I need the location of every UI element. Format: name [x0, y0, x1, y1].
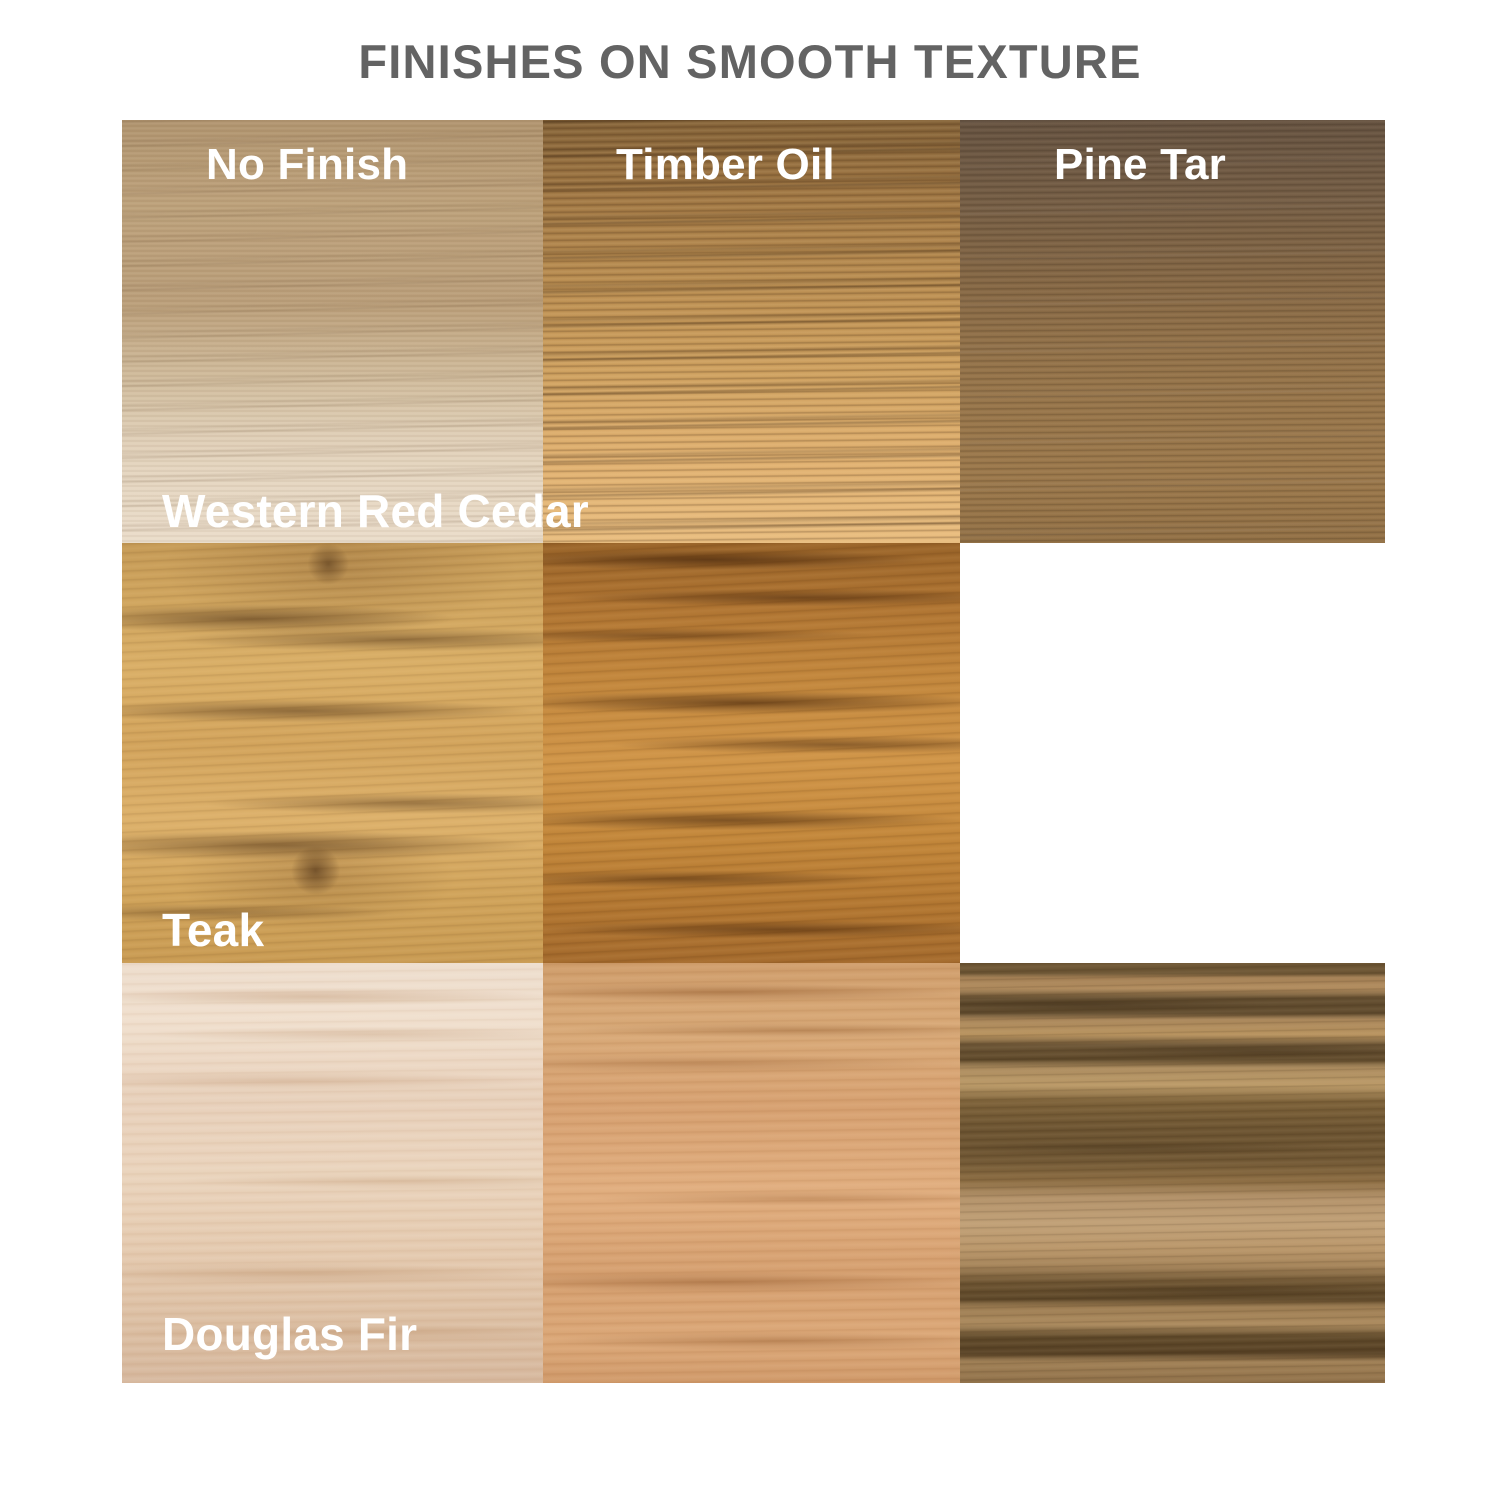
swatch-douglas-fir-pine-tar[interactable] — [960, 963, 1385, 1383]
column-label-pine-tar: Pine Tar — [1054, 140, 1226, 190]
column-label-no-finish: No Finish — [206, 140, 408, 190]
swatch-douglas-fir-timber-oil[interactable] — [543, 963, 960, 1383]
row-label-teak: Teak — [162, 903, 264, 957]
swatch-teak-pine-tar-empty — [960, 543, 1385, 963]
wood-fill — [960, 963, 1385, 1383]
swatch-teak-timber-oil[interactable] — [543, 543, 960, 963]
swatch-teak-no-finish[interactable] — [122, 543, 543, 963]
wood-fill — [543, 543, 960, 963]
wood-fill — [543, 963, 960, 1383]
row-label-western-red-cedar: Western Red Cedar — [162, 484, 589, 538]
swatch-grid: No Finish Timber Oil Pine Tar Western Re… — [122, 120, 1385, 1383]
row-label-douglas-fir: Douglas Fir — [162, 1307, 417, 1361]
column-label-timber-oil: Timber Oil — [616, 140, 835, 190]
wood-fill — [122, 543, 543, 963]
page-title: FINISHES ON SMOOTH TEXTURE — [0, 34, 1500, 89]
